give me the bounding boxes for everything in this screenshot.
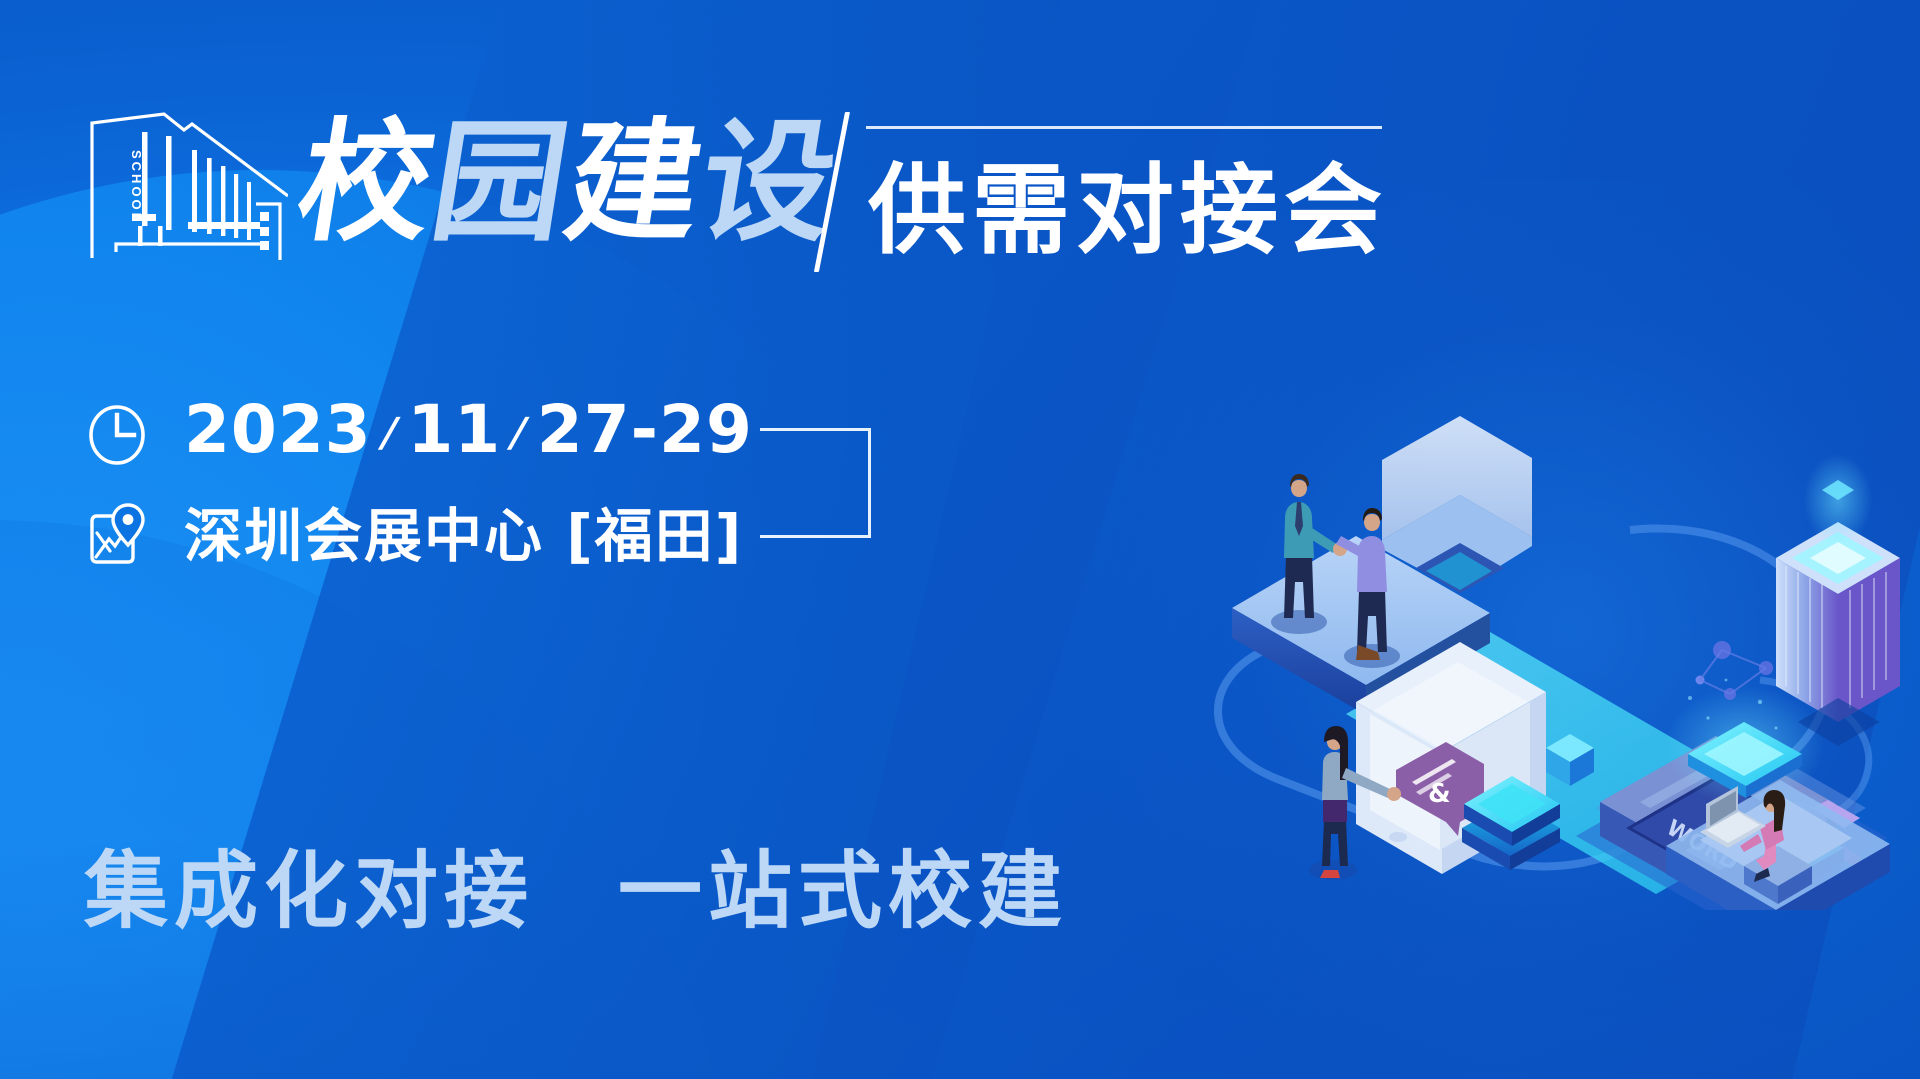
banner-header: SCHOOL 校园建设 供需对接会 [0, 0, 1920, 300]
tagline-left: 集成化对接 [84, 842, 534, 940]
clock-icon [84, 399, 154, 469]
event-info-block: 2023/11/27-29 深圳会展中心 [福田] [84, 390, 904, 580]
event-venue-row: 深圳会展中心 [福田] [84, 492, 904, 580]
map-pin-icon [84, 501, 154, 571]
title-char-1: 园 [422, 108, 580, 258]
title-horizontal-rule [866, 126, 1382, 129]
event-banner: SCHOOL 校园建设 供需对接会 2023/11/27-29 [0, 0, 1920, 1079]
page-subtitle: 供需对接会 [868, 155, 1388, 267]
date-month: 11 [407, 391, 501, 468]
tagline-right: 一站式校建 [618, 842, 1068, 940]
isometric-business-platform-illustration: & [1160, 350, 1920, 910]
school-label: SCHOOL [129, 150, 144, 224]
event-tagline: 集成化对接一站式校建 [84, 843, 1068, 939]
page-title: 校园建设 [288, 108, 848, 258]
event-venue-text: 深圳会展中心 [福田] [184, 503, 743, 569]
date-days: 27-29 [537, 391, 753, 468]
chat-bubble-glyph: & [1428, 779, 1451, 809]
event-date-row: 2023/11/27-29 [84, 390, 904, 478]
school-building-icon: SCHOOL [88, 110, 288, 260]
date-year: 2023 [184, 391, 372, 468]
title-char-2: 建 [556, 108, 714, 258]
event-date-text: 2023/11/27-29 [184, 394, 753, 475]
title-char-0: 校 [288, 108, 446, 258]
